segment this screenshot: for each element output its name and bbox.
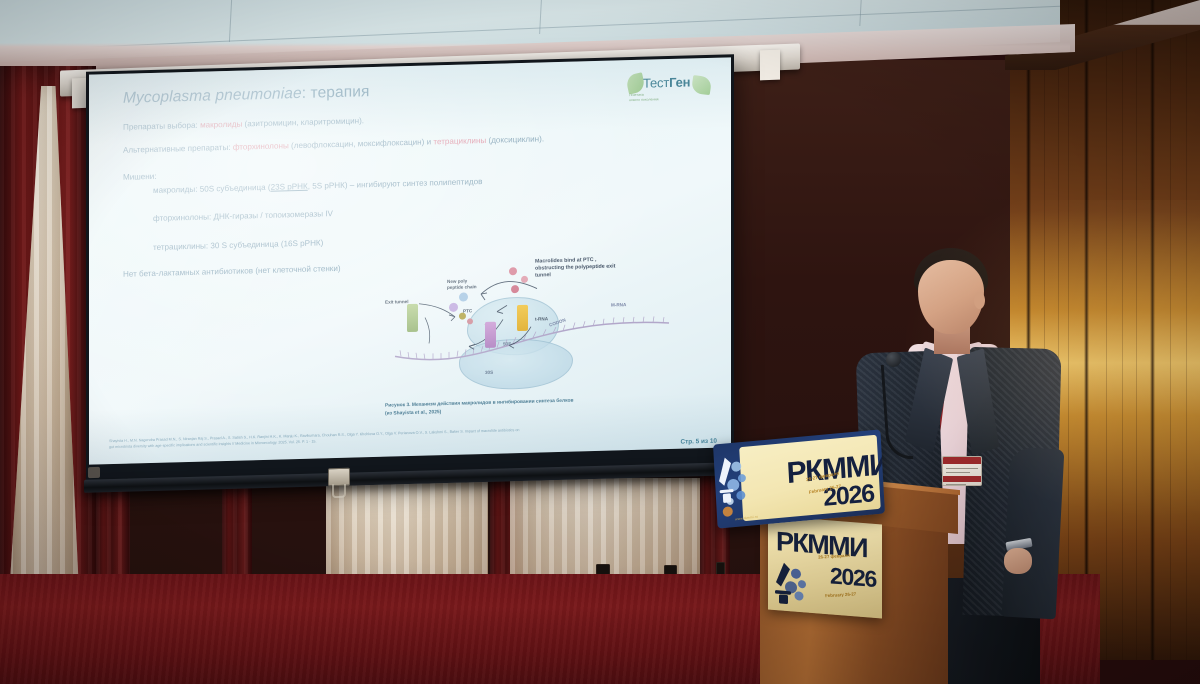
slide-line-first-choice: Препараты выбора: макролиды (азитромицин…: [123, 107, 709, 133]
logo-word-part2: Ген: [669, 74, 690, 90]
first-choice-prefix: Препараты выбора:: [123, 121, 200, 132]
first-choice-suffix: (азитромицин, кларитромицин).: [242, 116, 364, 128]
logo-tagline-line2: нового поколения: [629, 97, 659, 103]
lectern-top-banner: РКММИ 2026 26-27 февраля February 26-27 …: [713, 429, 885, 528]
screen-bracket-right: [760, 50, 780, 81]
diagram-label-mrna: M-RNA: [611, 302, 626, 308]
front-banner-dates-en: February 26-27: [825, 591, 857, 598]
alternative-suffix: (доксициклин).: [486, 134, 544, 145]
microphone-neck-icon: [881, 363, 914, 461]
slide-line-alternative: Альтернативные препараты: фторхинолоны (…: [123, 130, 709, 156]
slide-title: Mycoplasma pneumoniae: терапия: [123, 74, 709, 108]
diagram-label-50s: 50S: [503, 341, 511, 347]
slide-surface: Mycoplasma pneumoniae: терапия Препараты…: [89, 57, 731, 464]
trna-purple-icon: [485, 322, 496, 348]
diagram-label-ptc: PTC: [463, 308, 472, 314]
top-banner-year: 2026: [822, 479, 874, 513]
logo-word-part1: Тест: [643, 75, 669, 91]
top-banner-panel: РКММИ 2026 26-27 февраля February 26-27: [739, 435, 881, 521]
polypeptide-green-icon: [407, 304, 418, 332]
alternative-mid: (левофлоксацин, моксифлоксацин) и: [289, 137, 434, 150]
slide-title-topic: : терапия: [302, 83, 370, 102]
front-banner-microscope-icon: [772, 556, 808, 611]
trna-yellow-icon: [517, 305, 528, 331]
target1-rrna: 23S рРНК: [271, 182, 308, 192]
drug-fluoroquinolones: фторхинолоны: [233, 141, 289, 152]
diagram-label-macrolides: Macrolides bind at PTC , obstructing the…: [535, 256, 647, 280]
new-chain-line2: peptide chain: [447, 284, 477, 291]
logo-tagline: Генетика нового поколения: [629, 92, 659, 103]
drug-macrolides: макролиды: [200, 120, 242, 130]
screen-pull-loop[interactable]: [332, 484, 346, 498]
presenter-name-badge: [942, 456, 982, 486]
target1-suffix: , 5S рРНК) – ингибируют синтез полипепти…: [308, 177, 483, 191]
slide-title-species: Mycoplasma pneumoniae: [123, 85, 302, 107]
presenter-right-arm: [1002, 447, 1065, 620]
drug-tetracyclines: тетрациклины: [433, 136, 486, 146]
presenter-hand: [1004, 548, 1032, 574]
slide-page-indicator: Стр. 5 из 10: [680, 438, 717, 446]
diagram-label-trna: t-RNA: [535, 316, 548, 322]
ribosome-mechanism-diagram: Macrolides bind at PTC , obstructing the…: [385, 245, 685, 405]
alternative-prefix: Альтернативные препараты:: [123, 143, 233, 155]
lectern-front-banner: РКММИ 2026 26-27 февраля February 26-27: [768, 516, 882, 619]
conference-hall-photo: Mycoplasma pneumoniae: терапия Препараты…: [0, 0, 1200, 684]
slide-target-fluoroquinolones: фторхинолоны: ДНК-гиразы / топоизомеразы…: [153, 199, 709, 224]
gooseneck-microphone[interactable]: [878, 352, 948, 472]
diagram-label-exit-tunnel: Exit tunnel: [385, 299, 408, 306]
microphone-capsule-icon: [886, 352, 901, 367]
testgen-logo: ТестГен Генетика нового поколения: [627, 70, 705, 108]
top-banner-microscope-icon: [715, 448, 749, 523]
front-banner-year: 2026: [830, 562, 876, 593]
target1-prefix: макролиды: 50S субъединица (: [153, 183, 271, 195]
screen-endcap-left: [88, 467, 100, 478]
diagram-label-30s: 30S: [485, 370, 493, 376]
diagram-label-new-chain: New poly peptide chain: [447, 278, 477, 291]
projection-screen: Mycoplasma pneumoniae: терапия Препараты…: [86, 54, 734, 486]
logo-wordmark: ТестГен: [643, 74, 690, 90]
presenter-ear: [974, 292, 985, 309]
